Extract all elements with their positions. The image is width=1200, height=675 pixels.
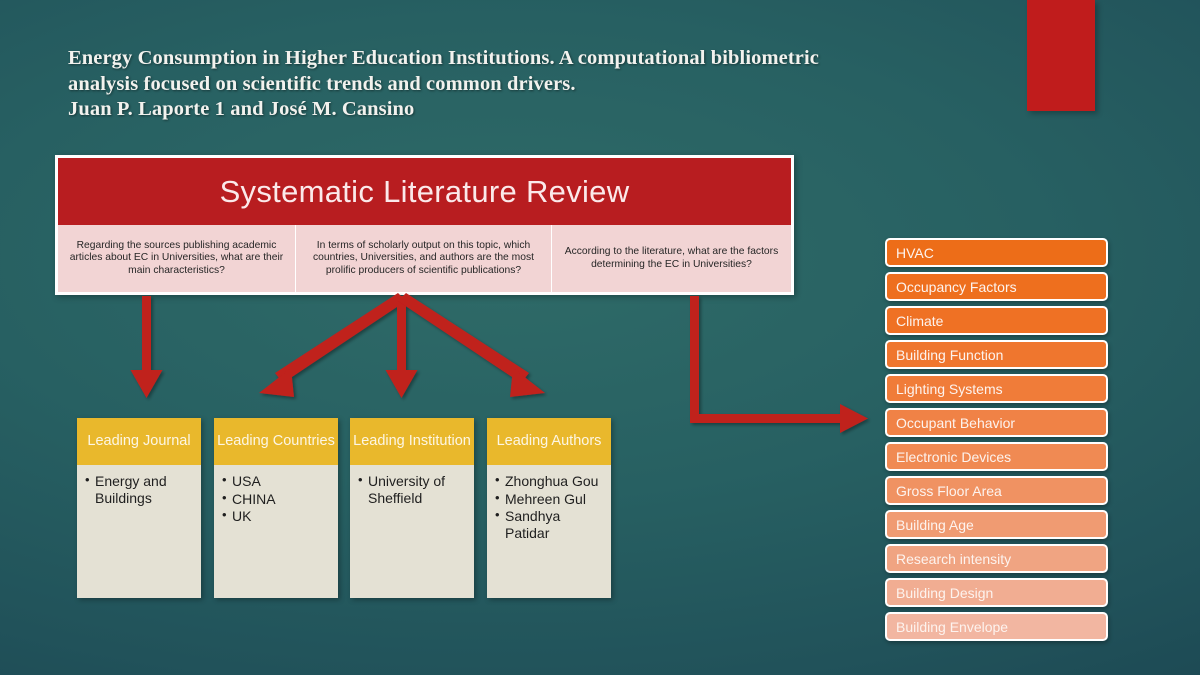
- card-leading-countries[interactable]: Leading Countries USA CHINA UK: [214, 418, 338, 598]
- factor-label: Research intensity: [896, 551, 1011, 567]
- card-title: Leading Institution: [350, 418, 474, 465]
- card-body: Energy and Buildings: [77, 465, 201, 598]
- list-item: CHINA: [222, 491, 332, 508]
- factor-label: HVAC: [896, 245, 934, 261]
- research-question-2: In terms of scholarly output on this top…: [295, 225, 551, 292]
- title-line-1: Energy Consumption in Higher Education I…: [68, 46, 968, 72]
- factor-pill-building-envelope[interactable]: Building Envelope: [885, 612, 1108, 641]
- arrow-q2-to-leading-authors: [398, 293, 545, 397]
- factor-label: Gross Floor Area: [896, 483, 1002, 499]
- factor-label: Building Design: [896, 585, 993, 601]
- systematic-literature-review-block: Systematic Literature Review Regarding t…: [55, 155, 794, 295]
- factor-pill-building-age[interactable]: Building Age: [885, 510, 1108, 539]
- card-item-list: Zhonghua Gou Mehreen Gul Sandhya Patidar: [495, 473, 605, 541]
- factor-pill-gross-floor-area[interactable]: Gross Floor Area: [885, 476, 1108, 505]
- arrow-q3-to-factors: [690, 296, 868, 433]
- factor-pill-occupancy-factors[interactable]: Occupancy Factors: [885, 272, 1108, 301]
- factor-label: Occupant Behavior: [896, 415, 1015, 431]
- card-item-list: Energy and Buildings: [85, 473, 195, 506]
- slr-banner: Systematic Literature Review: [58, 158, 791, 225]
- factor-label: Lighting Systems: [896, 381, 1003, 397]
- list-item: UK: [222, 508, 332, 525]
- list-item: Sandhya Patidar: [495, 508, 605, 541]
- card-leading-journal[interactable]: Leading Journal Energy and Buildings: [77, 418, 201, 598]
- page-title: Energy Consumption in Higher Education I…: [68, 46, 968, 123]
- research-question-3: According to the literature, what are th…: [551, 225, 791, 292]
- card-body: University of Sheffield: [350, 465, 474, 598]
- factor-label: Electronic Devices: [896, 449, 1011, 465]
- arrow-q2-to-leading-institution: [386, 296, 418, 398]
- card-item-list: University of Sheffield: [358, 473, 468, 506]
- factor-label: Occupancy Factors: [896, 279, 1017, 295]
- factor-pill-lighting-systems[interactable]: Lighting Systems: [885, 374, 1108, 403]
- title-line-2: analysis focused on scientific trends an…: [68, 72, 968, 98]
- card-leading-authors[interactable]: Leading Authors Zhonghua Gou Mehreen Gul…: [487, 418, 611, 598]
- card-body: Zhonghua Gou Mehreen Gul Sandhya Patidar: [487, 465, 611, 598]
- list-item: USA: [222, 473, 332, 490]
- title-authors: Juan P. Laporte 1 and José M. Cansino: [68, 97, 968, 123]
- ec-factors-list: HVAC Occupancy Factors Climate Building …: [885, 238, 1108, 646]
- factor-label: Climate: [896, 313, 943, 329]
- factor-pill-climate[interactable]: Climate: [885, 306, 1108, 335]
- card-leading-institution[interactable]: Leading Institution University of Sheffi…: [350, 418, 474, 598]
- factor-pill-building-design[interactable]: Building Design: [885, 578, 1108, 607]
- card-title: Leading Countries: [214, 418, 338, 465]
- factor-pill-building-function[interactable]: Building Function: [885, 340, 1108, 369]
- research-question-1: Regarding the sources publishing academi…: [58, 225, 295, 292]
- card-title: Leading Journal: [77, 418, 201, 465]
- arrow-q2-to-leading-countries: [259, 293, 406, 397]
- research-questions-band: Regarding the sources publishing academi…: [58, 225, 791, 292]
- factor-pill-occupant-behavior[interactable]: Occupant Behavior: [885, 408, 1108, 437]
- arrow-group: [131, 293, 869, 433]
- accent-bar: [1027, 0, 1095, 111]
- list-item: Mehreen Gul: [495, 491, 605, 508]
- factor-label: Building Function: [896, 347, 1003, 363]
- arrow-q1-to-leading-journal: [131, 296, 163, 398]
- factor-pill-electronic-devices[interactable]: Electronic Devices: [885, 442, 1108, 471]
- factor-label: Building Age: [896, 517, 974, 533]
- card-body: USA CHINA UK: [214, 465, 338, 598]
- list-item: Energy and Buildings: [85, 473, 195, 506]
- card-item-list: USA CHINA UK: [222, 473, 332, 525]
- factor-pill-hvac[interactable]: HVAC: [885, 238, 1108, 267]
- list-item: Zhonghua Gou: [495, 473, 605, 490]
- factor-label: Building Envelope: [896, 619, 1008, 635]
- list-item: University of Sheffield: [358, 473, 468, 506]
- card-title: Leading Authors: [487, 418, 611, 465]
- factor-pill-research-intensity[interactable]: Research intensity: [885, 544, 1108, 573]
- slr-banner-label: Systematic Literature Review: [220, 174, 630, 210]
